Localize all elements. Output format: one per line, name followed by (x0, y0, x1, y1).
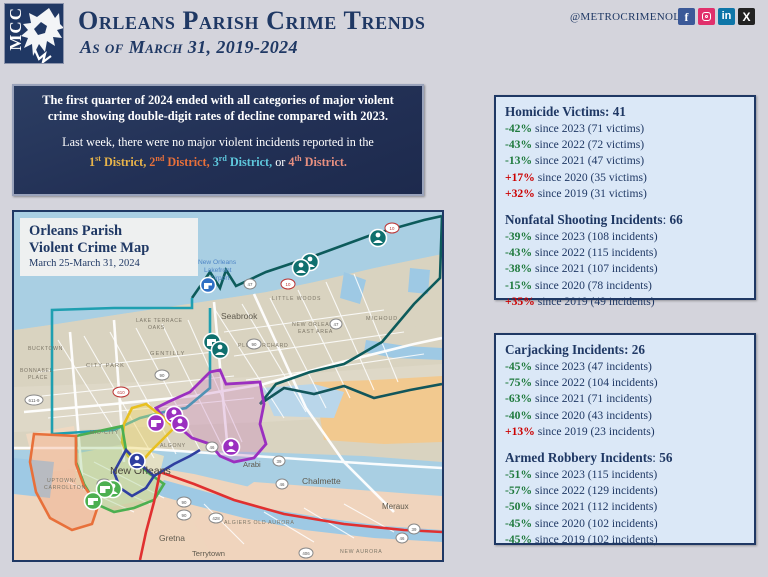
svg-text:CARROLLTON: CARROLLTON (44, 485, 86, 491)
stat-row: -57% since 2022 (129 incidents) (505, 483, 745, 499)
x-twitter-icon[interactable]: X (738, 8, 755, 25)
stat-pct: -38% (505, 262, 532, 275)
stat-pct: -40% (505, 409, 532, 422)
stat-row: +35% since 2019 (49 incidents) (505, 294, 745, 310)
stat-text: since 2020 (102 incidents) (535, 517, 658, 530)
svg-text:MID-CITY: MID-CITY (90, 430, 119, 436)
stat-row: +13% since 2019 (23 incidents) (505, 424, 745, 440)
district-2-label: 2nd District, (149, 155, 209, 169)
incident-marker (293, 260, 310, 277)
stat-row: +32% since 2019 (31 victims) (505, 186, 745, 202)
svg-text:New Orleans: New Orleans (198, 259, 237, 266)
svg-text:Meraux: Meraux (382, 502, 409, 511)
stat-text: since 2022 (115 incidents) (535, 246, 657, 259)
svg-text:90: 90 (182, 513, 187, 518)
svg-text:UPTOWN/: UPTOWN/ (47, 478, 76, 484)
stat-row: -39% since 2023 (108 incidents) (505, 229, 745, 245)
stat-text: since 2022 (104 incidents) (535, 376, 658, 389)
stat-row: +17% since 2020 (35 victims) (505, 170, 745, 186)
svg-text:ALGONY: ALGONY (160, 443, 186, 449)
stat-pct: -63% (505, 392, 532, 405)
page-title: Orleans Parish Crime Trends (78, 6, 426, 36)
svg-text:ALGIERS OLD AURORA: ALGIERS OLD AURORA (224, 520, 295, 526)
callout-districts: Last week, there were no major violent i… (28, 135, 408, 170)
stat-pct: -43% (505, 138, 532, 151)
linkedin-glyph: in (722, 11, 732, 22)
stat-row: -45% since 2020 (102 incidents) (505, 516, 745, 532)
stat-section-title: Carjacking Incidents: 26 (505, 341, 745, 359)
svg-text:406: 406 (302, 551, 310, 556)
stat-pct: -43% (505, 246, 532, 259)
stat-text: since 2023 (47 incidents) (535, 360, 652, 373)
nonfatal-value: 66 (670, 212, 683, 227)
stat-row: -43% since 2022 (115 incidents) (505, 245, 745, 261)
stat-text: since 2019 (23 incidents) (538, 425, 655, 438)
incident-marker (370, 230, 387, 247)
svg-text:Seabrook: Seabrook (221, 311, 258, 321)
stat-row: -15% since 2020 (78 incidents) (505, 278, 745, 294)
stat-pct: -39% (505, 230, 532, 243)
stat-pct: +17% (505, 171, 535, 184)
instagram-glyph (702, 12, 711, 21)
homicide-title: Homicide Victims (505, 104, 605, 119)
stat-pct: -42% (505, 122, 532, 135)
svg-text:610: 610 (117, 390, 125, 395)
page-header: MCC Orleans Parish Crime Trends As of Ma… (0, 0, 768, 66)
svg-text:10: 10 (286, 282, 291, 287)
svg-text:NEW AURORA: NEW AURORA (340, 549, 382, 555)
svg-text:611-9: 611-9 (29, 398, 40, 403)
x-glyph: X (742, 11, 750, 23)
district-3-label: 3rd District, (213, 155, 272, 169)
map-date-range: March 25-March 31, 2024 (29, 258, 198, 269)
stat-pct: -75% (505, 376, 532, 389)
map-title-card: Orleans Parish Violent Crime Map March 2… (20, 218, 198, 276)
robbery-title: Armed Robbery Incidents (505, 450, 652, 465)
stat-row: -38% since 2021 (107 incidents) (505, 261, 745, 277)
stat-text: since 2020 (43 incidents) (535, 409, 652, 422)
svg-text:Terrytown: Terrytown (192, 549, 225, 558)
carjacking-title: Carjacking Incidents (505, 342, 624, 357)
svg-text:46: 46 (280, 482, 285, 487)
stat-row: -40% since 2020 (43 incidents) (505, 408, 745, 424)
homicide-value: 41 (613, 104, 626, 119)
stat-text: since 2023 (115 incidents) (535, 468, 657, 481)
svg-text:10: 10 (390, 226, 395, 231)
svg-text:Lakefront: Lakefront (204, 267, 232, 274)
stat-text: since 2019 (49 incidents) (538, 295, 655, 308)
svg-text:OAKS: OAKS (148, 325, 165, 331)
callout-lead: Last week, there were no major violent i… (62, 135, 374, 149)
stats-box-top: Homicide Victims: 41 -42% since 2023 (71… (494, 95, 756, 300)
incident-marker (129, 453, 145, 469)
summary-callout: The first quarter of 2024 ended with all… (12, 84, 424, 196)
stat-pct: -50% (505, 500, 532, 513)
svg-text:PLACE: PLACE (28, 375, 48, 381)
incident-marker (172, 416, 189, 433)
stat-pct: -45% (505, 517, 532, 530)
stat-section-title: Nonfatal Shooting Incidents: 66 (505, 211, 745, 229)
stat-row: -51% since 2023 (115 incidents) (505, 467, 745, 483)
callout-conjunction: or (275, 155, 285, 169)
stat-text: since 2020 (35 victims) (538, 171, 647, 184)
svg-text:EAST AREA: EAST AREA (298, 329, 333, 335)
robbery-value: 56 (659, 450, 672, 465)
stat-row: -42% since 2023 (71 victims) (505, 121, 745, 137)
social-handle: @METROCRIMENOLA (570, 11, 689, 23)
stat-text: since 2019 (102 incidents) (535, 533, 658, 546)
linkedin-icon[interactable]: in (718, 8, 735, 25)
incident-marker (148, 415, 165, 432)
stat-text: since 2020 (78 incidents) (535, 279, 652, 292)
svg-text:LITTLE WOODS: LITTLE WOODS (272, 296, 321, 302)
stat-pct: +35% (505, 295, 535, 308)
svg-text:Arabi: Arabi (243, 460, 261, 469)
incident-marker (201, 278, 216, 293)
stat-section-title: Homicide Victims: 41 (505, 103, 745, 121)
stat-text: since 2021 (107 incidents) (535, 262, 658, 275)
svg-text:90: 90 (252, 342, 257, 347)
violent-crime-map[interactable]: LAKE TERRACE OAKS GENTILLY CITY PARK BUC… (12, 210, 444, 562)
svg-text:47: 47 (334, 322, 339, 327)
stat-row: -43% since 2022 (72 victims) (505, 137, 745, 153)
map-title-line2: Violent Crime Map (29, 240, 198, 257)
svg-text:BONNABEL: BONNABEL (20, 368, 53, 374)
nonfatal-title: Nonfatal Shooting Incidents (505, 212, 663, 227)
svg-text:LAKE TERRACE: LAKE TERRACE (136, 318, 183, 324)
stat-pct: +13% (505, 425, 535, 438)
stat-pct: -57% (505, 484, 532, 497)
svg-text:PLUM ORCHARD: PLUM ORCHARD (238, 343, 288, 349)
page-subtitle: As of March 31, 2019-2024 (80, 37, 298, 58)
stat-row: -50% since 2021 (112 incidents) (505, 499, 745, 515)
stat-text: since 2023 (108 incidents) (535, 230, 658, 243)
svg-text:46: 46 (210, 445, 215, 450)
stat-row: -45% since 2019 (102 incidents) (505, 532, 745, 548)
mcc-logo: MCC (4, 3, 64, 64)
svg-text:90: 90 (160, 373, 165, 378)
stat-text: since 2021 (71 incidents) (535, 392, 652, 405)
stats-box-bottom: Carjacking Incidents: 26 -45% since 2023… (494, 333, 756, 545)
svg-text:39: 39 (277, 459, 282, 464)
svg-text:GENTILLY: GENTILLY (150, 351, 185, 357)
stat-text: since 2022 (129 incidents) (535, 484, 658, 497)
incident-marker (85, 493, 102, 510)
district-4-label: 4th District. (288, 155, 347, 169)
stat-pct: -45% (505, 533, 532, 546)
stat-pct: -51% (505, 468, 532, 481)
stat-text: since 2021 (112 incidents) (535, 500, 657, 513)
stat-row: -75% since 2022 (104 incidents) (505, 375, 745, 391)
stat-section-title: Armed Robbery Incidents: 56 (505, 449, 745, 467)
svg-text:46: 46 (400, 536, 405, 541)
stat-pct: -45% (505, 360, 532, 373)
instagram-icon[interactable] (698, 8, 715, 25)
svg-text:MICHOUD: MICHOUD (366, 316, 398, 322)
stat-pct: -13% (505, 154, 532, 167)
svg-text:47: 47 (248, 282, 253, 287)
map-title-line1: Orleans Parish (29, 223, 198, 240)
stat-pct: -15% (505, 279, 532, 292)
svg-text:428: 428 (212, 516, 220, 521)
facebook-icon[interactable]: f (678, 8, 695, 25)
carjacking-value: 26 (632, 342, 645, 357)
stat-text: since 2019 (31 victims) (538, 187, 647, 200)
stat-row: -13% since 2021 (47 victims) (505, 153, 745, 169)
incident-marker (223, 439, 240, 456)
callout-headline: The first quarter of 2024 ended with all… (28, 93, 408, 124)
facebook-glyph: f (685, 11, 689, 23)
stat-text: since 2022 (72 victims) (535, 138, 644, 151)
stat-row: -45% since 2023 (47 incidents) (505, 359, 745, 375)
wolf-head-icon (19, 6, 64, 63)
svg-text:Gretna: Gretna (159, 533, 185, 543)
district-1-label: 1st District, (89, 155, 146, 169)
social-links: f in X (678, 8, 755, 25)
stat-text: since 2021 (47 victims) (535, 154, 644, 167)
crime-trends-infographic: MCC Orleans Parish Crime Trends As of Ma… (0, 0, 768, 577)
svg-text:Chalmette: Chalmette (302, 476, 341, 486)
stat-text: since 2023 (71 victims) (535, 122, 644, 135)
incident-marker (212, 342, 229, 359)
svg-text:CITY PARK: CITY PARK (86, 363, 125, 369)
svg-text:90: 90 (182, 500, 187, 505)
stat-row: -63% since 2021 (71 incidents) (505, 391, 745, 407)
stat-pct: +32% (505, 187, 535, 200)
svg-text:BUCKTOWN: BUCKTOWN (28, 346, 63, 352)
svg-text:39: 39 (412, 527, 417, 532)
